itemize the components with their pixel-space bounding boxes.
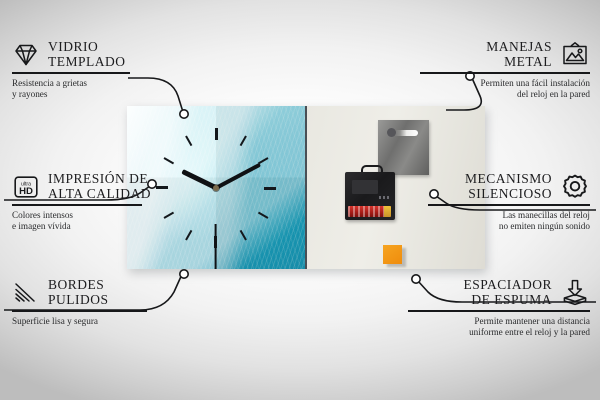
callout-impresion-alta-calidad: ultra HD IMPRESIÓN DE ALTA CALIDAD Color… — [12, 172, 142, 232]
callout-rule — [12, 204, 142, 206]
callout-description: Permite mantener una distancia uniforme … — [408, 316, 590, 338]
callout-mecanismo-silencioso: MECANISMO SILENCIOSO Las manecillas del … — [428, 172, 590, 232]
callout-rule — [428, 204, 590, 206]
callout-rule — [12, 310, 147, 312]
mechanism-label — [379, 196, 391, 199]
svg-text:HD: HD — [19, 186, 33, 197]
product-feature-infographic: VIDRIO TEMPLADO Resistencia a grietas y … — [0, 0, 600, 400]
callout-description: Resistencia a grietas y rayones — [12, 78, 130, 100]
callout-description: Superficie lisa y segura — [12, 316, 147, 327]
mechanism-slot — [352, 180, 378, 194]
callout-rule — [12, 72, 130, 74]
gear-icon — [560, 173, 590, 201]
aa-battery — [348, 206, 391, 217]
callout-title: ESPACIADOR DE ESPUMA — [463, 278, 552, 307]
hanger-keyhole-slot — [388, 130, 418, 136]
callout-title: MECANISMO SILENCIOSO — [465, 172, 552, 201]
callout-manejas-metal: MANEJAS METAL Permiten una fácil instala… — [420, 40, 590, 100]
callout-bordes-pulidos: BORDES PULIDOS Superficie lisa y segura — [12, 278, 147, 327]
callout-espaciador-espuma: ESPACIADOR DE ESPUMA Permite mantener un… — [408, 278, 590, 338]
picture-hanger-icon — [560, 41, 590, 68]
diamond-icon — [12, 42, 40, 68]
callout-rule — [408, 310, 590, 312]
metal-hanger-plate — [378, 120, 429, 175]
callout-title: IMPRESIÓN DE ALTA CALIDAD — [48, 172, 151, 201]
press-pad-icon — [560, 279, 590, 307]
callout-description: Colores intensos e imagen vívida — [12, 210, 142, 232]
clock-center-pin — [213, 185, 219, 191]
battery-cap — [384, 206, 391, 217]
callout-title: VIDRIO TEMPLADO — [48, 40, 126, 69]
callout-rule — [420, 72, 590, 74]
callout-description: Las manecillas del reloj no emiten ningú… — [428, 210, 590, 232]
mechanism-body — [345, 172, 395, 220]
callout-title: BORDES PULIDOS — [48, 278, 109, 307]
clock-face — [127, 106, 305, 269]
clock-mechanism — [345, 172, 395, 220]
beveled-edge-icon — [12, 280, 40, 306]
clock-front-panel — [127, 106, 307, 269]
ultra-hd-badge-icon: ultra HD — [12, 174, 40, 200]
clock-second-hand — [215, 224, 217, 270]
callout-title: MANEJAS METAL — [486, 40, 552, 69]
callout-vidrio-templado: VIDRIO TEMPLADO Resistencia a grietas y … — [12, 40, 130, 100]
foam-spacer — [383, 245, 402, 264]
callout-description: Permiten una fácil instalación del reloj… — [420, 78, 590, 100]
